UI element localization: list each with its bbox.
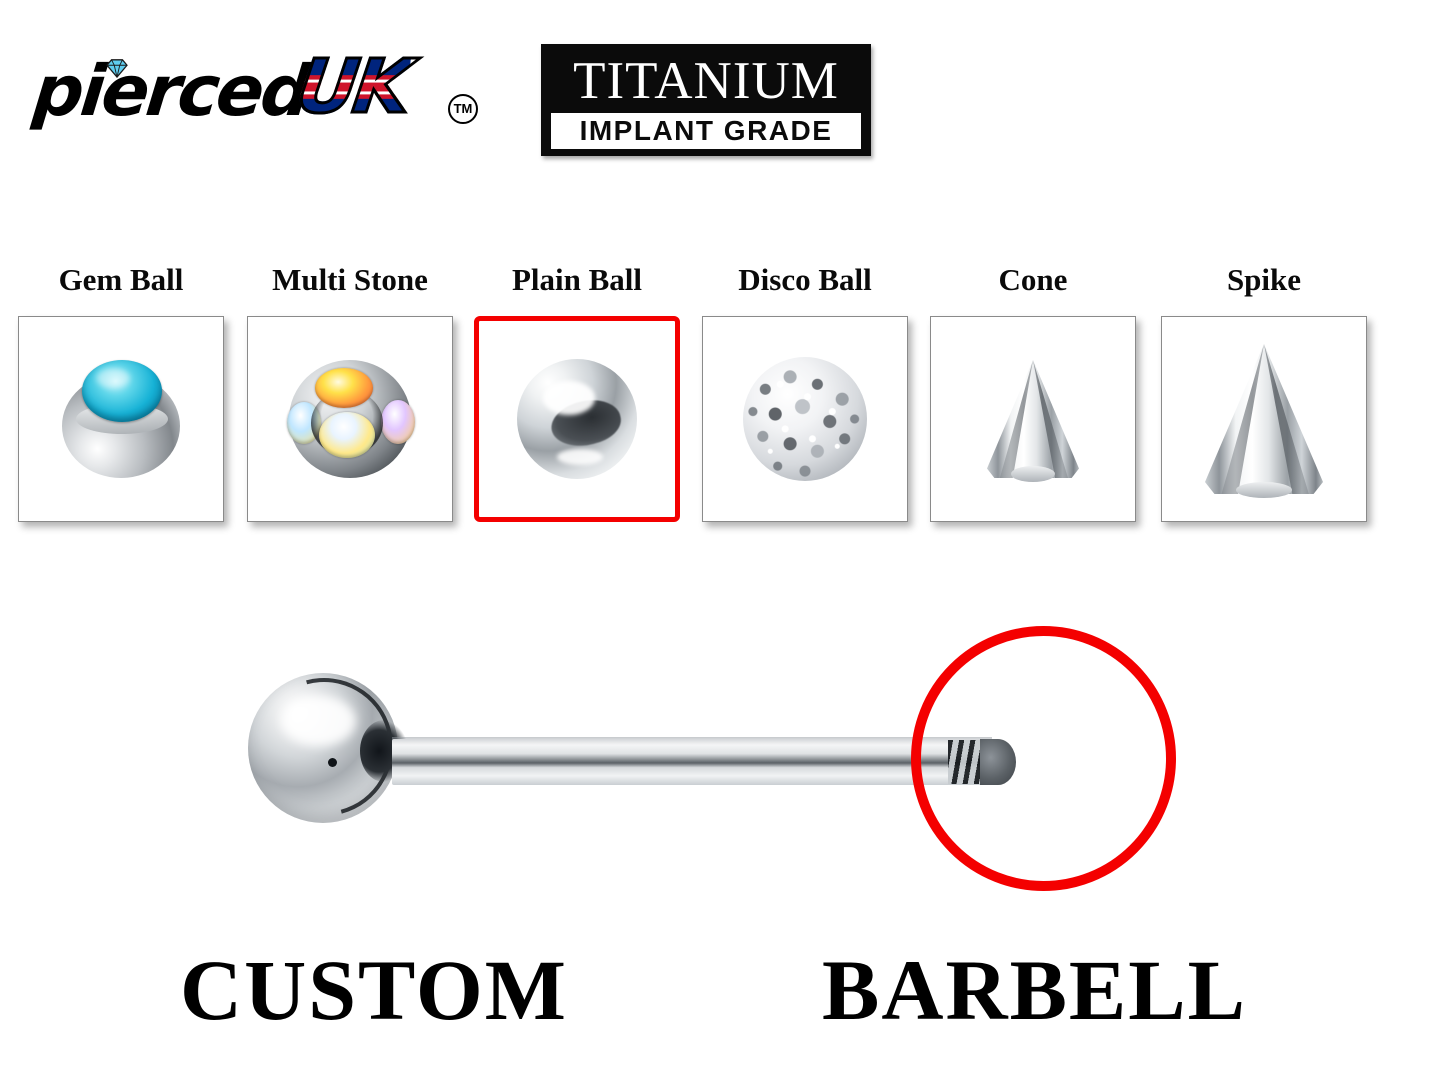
barbell-ball-dot <box>328 758 337 767</box>
option-plain-ball[interactable]: Plain Ball <box>474 262 680 534</box>
option-label-cone: Cone <box>916 262 1150 298</box>
option-label-plain-ball: Plain Ball <box>460 262 694 298</box>
option-cone[interactable]: Cone <box>930 262 1136 534</box>
plain-ball-art <box>479 321 675 517</box>
option-tile-spike[interactable] <box>1161 316 1367 522</box>
barbell-product-figure <box>0 600 1445 930</box>
brand-logo: pierced UK TM <box>28 44 488 144</box>
brand-logo-primary-text: pierced <box>30 56 312 126</box>
barbell-shaft-shading <box>392 737 992 745</box>
option-disco-ball[interactable]: Disco Ball <box>702 262 908 534</box>
option-spike[interactable]: Spike <box>1161 262 1367 534</box>
spike-art <box>1162 317 1366 521</box>
multi-stone-art <box>248 317 452 521</box>
header-banner: pierced UK TM TITANIUM IMPLANT GRADE <box>0 0 1445 180</box>
option-tile-disco-ball[interactable] <box>702 316 908 522</box>
option-label-spike: Spike <box>1147 262 1381 298</box>
caption-row: CUSTOM BARBELL <box>0 940 1445 1050</box>
disco-ball-art <box>703 317 907 521</box>
option-label-gem-ball: Gem Ball <box>4 262 238 298</box>
option-tile-multi-stone[interactable] <box>247 316 453 522</box>
barbell-ball-highlight <box>282 696 356 746</box>
option-multi-stone[interactable]: Multi Stone <box>247 262 453 534</box>
trademark-icon: TM <box>448 94 478 124</box>
badge-subtitle-bar: IMPLANT GRADE <box>551 113 861 149</box>
cone-art <box>931 317 1135 521</box>
option-label-disco-ball: Disco Ball <box>688 262 922 298</box>
titanium-implant-grade-badge: TITANIUM IMPLANT GRADE <box>541 44 871 156</box>
option-tile-gem-ball[interactable] <box>18 316 224 522</box>
brand-logo-uk-flag-text: UK <box>293 50 413 124</box>
badge-subtitle: IMPLANT GRADE <box>551 113 861 149</box>
attachment-options-row: Gem Ball Multi Stone <box>0 262 1445 542</box>
option-gem-ball[interactable]: Gem Ball <box>18 262 224 534</box>
gem-ball-art <box>19 317 223 521</box>
threaded-end-highlight-circle <box>911 626 1176 891</box>
option-tile-cone[interactable] <box>930 316 1136 522</box>
caption-word-custom: CUSTOM <box>180 940 568 1040</box>
badge-title: TITANIUM <box>551 52 861 110</box>
option-label-multi-stone: Multi Stone <box>233 262 467 298</box>
option-tile-plain-ball-selected[interactable] <box>474 316 680 522</box>
diamond-gem-icon <box>106 58 128 78</box>
caption-word-barbell: BARBELL <box>822 940 1247 1040</box>
